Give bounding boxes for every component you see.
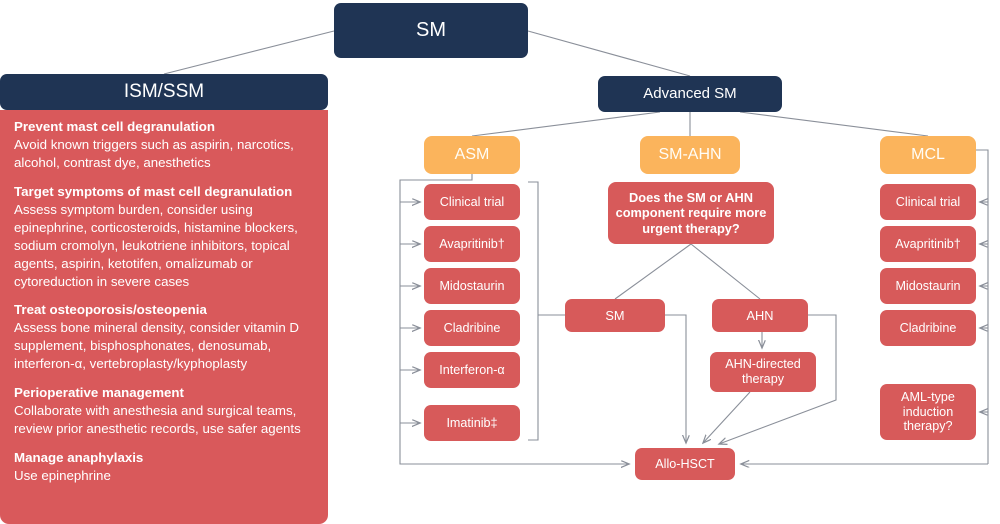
edge-question-to-ahn — [691, 244, 760, 299]
node-asm-item[interactable]: Avapritinib† — [424, 226, 520, 262]
node-ism-ssm-label: ISM/SSM — [124, 81, 204, 103]
node-mcl-item-label: AML-type induction therapy? — [880, 390, 976, 435]
node-mcl-header[interactable]: MCL — [880, 136, 976, 174]
ism-section: Target symptoms of mast cell degranulati… — [14, 183, 314, 291]
edge-adv-to-mcl — [740, 112, 928, 136]
edge-question-to-sm — [615, 244, 691, 299]
node-sm-label: SM — [416, 19, 446, 43]
ism-section-body: Assess symptom burden, consider using ep… — [14, 201, 314, 291]
ism-section-heading: Manage anaphylaxis — [14, 449, 314, 467]
node-asm-label: ASM — [455, 146, 490, 165]
ism-section-body: Collaborate with anesthesia and surgical… — [14, 402, 314, 438]
ism-section-heading: Perioperative management — [14, 384, 314, 402]
node-sm-component[interactable]: SM — [565, 299, 665, 332]
edge-asm-bracket — [528, 182, 538, 440]
node-asm-item[interactable]: Midostaurin — [424, 268, 520, 304]
node-asm-header[interactable]: ASM — [424, 136, 520, 174]
node-mcl-item-label: Cladribine — [900, 321, 957, 336]
node-allo-hsct[interactable]: Allo-HSCT — [635, 448, 735, 480]
node-mcl-label: MCL — [911, 146, 945, 165]
ism-section-body: Assess bone mineral density, consider vi… — [14, 319, 314, 373]
node-ahn-component-label: AHN — [746, 308, 773, 323]
node-ahn-directed-therapy[interactable]: AHN-directed therapy — [710, 352, 816, 392]
node-asm-item[interactable]: Imatinib‡ — [424, 405, 520, 441]
edge-sm-to-ism — [164, 31, 334, 74]
node-mcl-item-label: Avapritinib† — [895, 237, 961, 252]
ism-section: Manage anaphylaxis Use epinephrine — [14, 449, 314, 485]
ism-ssm-panel: Prevent mast cell degranulation Avoid kn… — [0, 110, 328, 524]
ism-section-heading: Treat osteoporosis/osteopenia — [14, 301, 314, 319]
node-asm-item-label: Midostaurin — [439, 279, 504, 294]
node-ahn-directed-therapy-label: AHN-directed therapy — [710, 357, 816, 387]
edge-directed-to-allo — [703, 392, 750, 443]
node-sm-ahn-header[interactable]: SM-AHN — [640, 136, 740, 174]
node-ism-ssm-header[interactable]: ISM/SSM — [0, 74, 328, 110]
edge-sm-to-advanced — [528, 31, 690, 76]
node-mcl-item-label: Clinical trial — [896, 195, 960, 210]
node-advanced-sm[interactable]: Advanced SM — [598, 76, 782, 112]
ism-section-heading: Target symptoms of mast cell degranulati… — [14, 183, 314, 201]
node-sm-ahn-label: SM-AHN — [658, 146, 721, 165]
node-advanced-sm-label: Advanced SM — [643, 85, 736, 103]
node-mcl-item[interactable]: AML-type induction therapy? — [880, 384, 976, 440]
node-sm-ahn-question-label: Does the SM or AHN component require mor… — [608, 190, 774, 235]
node-asm-item[interactable]: Interferon-α — [424, 352, 520, 388]
node-asm-item-label: Interferon-α — [439, 363, 504, 378]
node-mcl-item[interactable]: Cladribine — [880, 310, 976, 346]
node-mcl-item[interactable]: Clinical trial — [880, 184, 976, 220]
ism-section-body: Use epinephrine — [14, 467, 314, 485]
flowchart-canvas: SM Advanced SM ISM/SSM Prevent mast cell… — [0, 0, 1000, 524]
ism-section: Perioperative management Collaborate wit… — [14, 384, 314, 438]
node-asm-item-label: Imatinib‡ — [446, 416, 497, 431]
node-asm-item[interactable]: Clinical trial — [424, 184, 520, 220]
node-asm-item-label: Clinical trial — [440, 195, 504, 210]
node-allo-hsct-label: Allo-HSCT — [655, 457, 714, 472]
node-mcl-item[interactable]: Avapritinib† — [880, 226, 976, 262]
node-sm-ahn-question[interactable]: Does the SM or AHN component require mor… — [608, 182, 774, 244]
node-asm-item-label: Avapritinib† — [439, 237, 505, 252]
node-sm-component-label: SM — [605, 308, 624, 323]
ism-section-body: Avoid known triggers such as aspirin, na… — [14, 136, 314, 172]
node-mcl-item[interactable]: Midostaurin — [880, 268, 976, 304]
ism-section-heading: Prevent mast cell degranulation — [14, 118, 314, 136]
node-ahn-component[interactable]: AHN — [712, 299, 808, 332]
edge-smmid-to-allo — [665, 315, 686, 443]
node-sm[interactable]: SM — [334, 3, 528, 58]
node-mcl-item-label: Midostaurin — [895, 279, 960, 294]
edge-mcl-rail — [976, 150, 988, 464]
ism-section: Treat osteoporosis/osteopenia Assess bon… — [14, 301, 314, 373]
node-asm-item-label: Cladribine — [444, 321, 501, 336]
edge-adv-to-asm — [472, 112, 660, 136]
node-asm-item[interactable]: Cladribine — [424, 310, 520, 346]
ism-section: Prevent mast cell degranulation Avoid kn… — [14, 118, 314, 172]
